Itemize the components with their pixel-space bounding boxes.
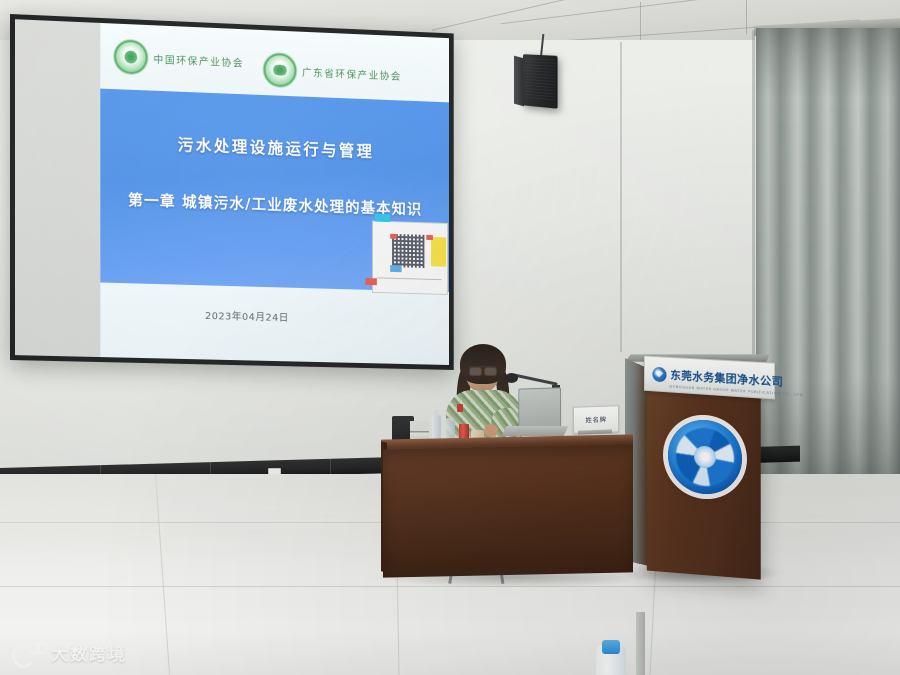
slide-footer: 2023年04月24日 — [100, 282, 449, 365]
association-label-guangdong: 广东省环保产业协会 — [302, 64, 402, 83]
company-logo-icon — [652, 366, 666, 382]
dashu-kuajing-logo-icon — [12, 642, 44, 664]
overlay-yellow-block — [431, 237, 446, 267]
green-oval-seal-icon — [263, 53, 296, 88]
bottle-cap — [602, 640, 620, 654]
foreground-pole — [636, 612, 645, 675]
overlay-red-marker — [390, 234, 397, 239]
screen-blank-margin — [15, 19, 100, 357]
table-shadow — [372, 566, 652, 588]
presenter-badge — [457, 404, 463, 412]
green-circular-seal-icon — [114, 39, 147, 74]
association-logo-china: 中国环保产业协会 — [114, 39, 244, 78]
association-label-china: 中国环保产业协会 — [153, 51, 244, 70]
overlay-divider — [377, 277, 442, 280]
curtain-shading — [756, 28, 900, 98]
wall-panel-seam — [620, 42, 622, 352]
presenter-table-front — [383, 444, 633, 577]
baseboard-seam — [330, 459, 331, 475]
ceiling-tile-line — [640, 2, 641, 42]
site-watermark: 大数跨境 — [12, 640, 127, 665]
association-logo-guangdong: 广东省环保产业协会 — [263, 53, 401, 92]
slide-subtitle: 第一章 城镇污水/工业废水处理的基本知识 — [100, 188, 449, 220]
presenter-hand — [484, 424, 498, 437]
slide-title: 污水处理设施运行与管理 — [100, 128, 449, 164]
desk-name-card-label: 姓名牌 — [574, 413, 618, 425]
laptop-keyboard[interactable] — [502, 426, 569, 436]
watermark-text: 大数跨境 — [51, 640, 127, 665]
ceiling-tile-line — [746, 0, 747, 34]
overlay-tab-marker — [375, 214, 390, 222]
emblem-core — [694, 445, 716, 468]
photo-scene: 中国环保产业协会 广东省环保产业协会 污水处理设施运行与管理 第一章 城镇污水/… — [0, 0, 900, 675]
eyeglasses-icon — [469, 366, 497, 374]
microphone-icon — [505, 373, 518, 383]
presentation-slide: 中国环保产业协会 广东省环保产业协会 污水处理设施运行与管理 第一章 城镇污水/… — [100, 23, 449, 365]
projection-screen: 中国环保产业协会 广东省环保产业协会 污水处理设施运行与管理 第一章 城镇污水/… — [10, 14, 454, 370]
qr-code-icon — [392, 234, 424, 268]
slide-date: 2023年04月24日 — [100, 304, 391, 326]
projection-surface: 中国环保产业协会 广东省环保产业协会 污水处理设施运行与管理 第一章 城镇污水/… — [15, 19, 449, 365]
overlay-blue-marker — [390, 265, 401, 272]
presenter-hair — [460, 344, 506, 384]
overlay-red-marker — [365, 278, 376, 285]
ceiling-speaker-icon — [523, 54, 558, 109]
watermark-o-shape — [36, 642, 48, 654]
qr-code-overlay[interactable] — [372, 221, 448, 295]
laptop-icon[interactable] — [518, 387, 561, 430]
overlay-red-marker — [426, 235, 433, 240]
